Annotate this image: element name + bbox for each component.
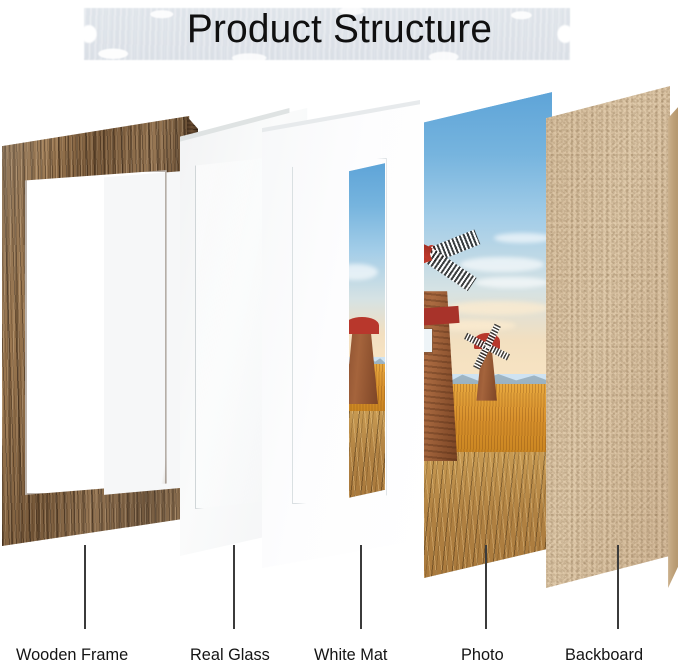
leader-line-white-mat xyxy=(360,545,362,629)
label-white-mat: White Mat xyxy=(314,645,387,665)
label-real-glass: Real Glass xyxy=(190,645,270,665)
label-backboard: Backboard xyxy=(565,645,643,665)
label-wooden-frame: Wooden Frame xyxy=(16,645,128,665)
leader-line-photo xyxy=(485,545,487,629)
leader-line-backboard xyxy=(617,545,619,629)
callout-group: Wooden Frame Real Glass White Mat Photo … xyxy=(0,0,679,666)
leader-line-wooden-frame xyxy=(84,545,86,629)
label-photo: Photo xyxy=(461,645,504,665)
leader-line-real-glass xyxy=(233,545,235,629)
